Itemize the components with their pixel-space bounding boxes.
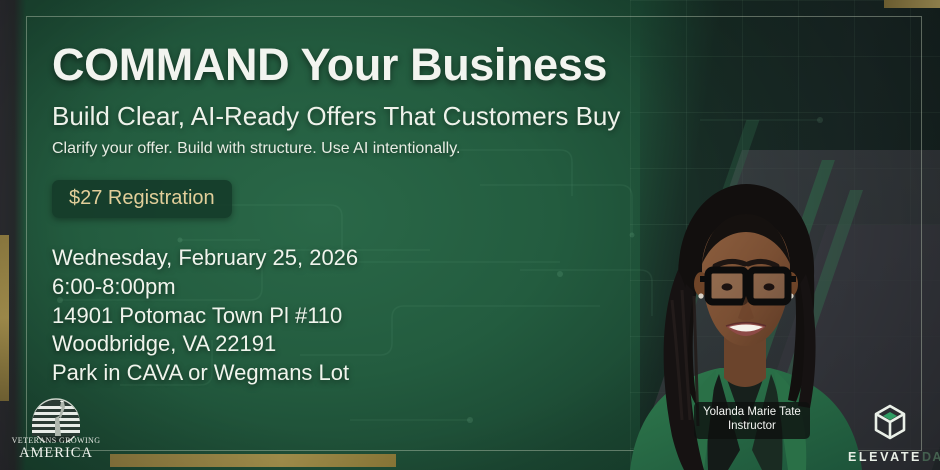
elevate-word-suffix: DAY bbox=[922, 450, 940, 464]
veterans-logo-line2: AMERICA bbox=[8, 445, 104, 462]
event-details-list: Wednesday, February 25, 2026 6:00-8:00pm… bbox=[52, 244, 692, 387]
cube-icon bbox=[870, 402, 910, 442]
event-detail-street: 14901 Potomac Town Pl #110 bbox=[52, 302, 692, 331]
event-detail-parking: Park in CAVA or Wegmans Lot bbox=[52, 359, 692, 388]
speaker-name: Yolanda Marie Tate bbox=[703, 406, 801, 420]
tagline: Clarify your offer. Build with structure… bbox=[52, 140, 692, 158]
event-detail-city: Woodbridge, VA 22191 bbox=[52, 330, 692, 359]
registration-price-badge: $27 Registration bbox=[52, 180, 232, 218]
speaker-role: Instructor bbox=[703, 420, 801, 434]
veterans-growing-america-logo: VETERANS GROWING AMERICA bbox=[8, 396, 104, 466]
subheadline: Build Clear, AI-Ready Offers That Custom… bbox=[52, 102, 692, 131]
elevate-logo: ELEVATEDAY bbox=[848, 402, 932, 464]
veterans-logo-line1: VETERANS GROWING bbox=[8, 436, 104, 445]
flyer-text-block: COMMAND Your Business Build Clear, AI-Re… bbox=[52, 42, 692, 387]
elevate-wordmark: ELEVATEDAY bbox=[848, 450, 932, 464]
page-title: COMMAND Your Business bbox=[52, 42, 692, 88]
speaker-name-tag: Yolanda Marie Tate Instructor bbox=[694, 402, 810, 439]
event-flyer: COMMAND Your Business Build Clear, AI-Re… bbox=[0, 0, 940, 470]
event-detail-date: Wednesday, February 25, 2026 bbox=[52, 244, 692, 273]
event-detail-time: 6:00-8:00pm bbox=[52, 273, 692, 302]
elevate-word-main: ELEVATE bbox=[848, 450, 922, 464]
